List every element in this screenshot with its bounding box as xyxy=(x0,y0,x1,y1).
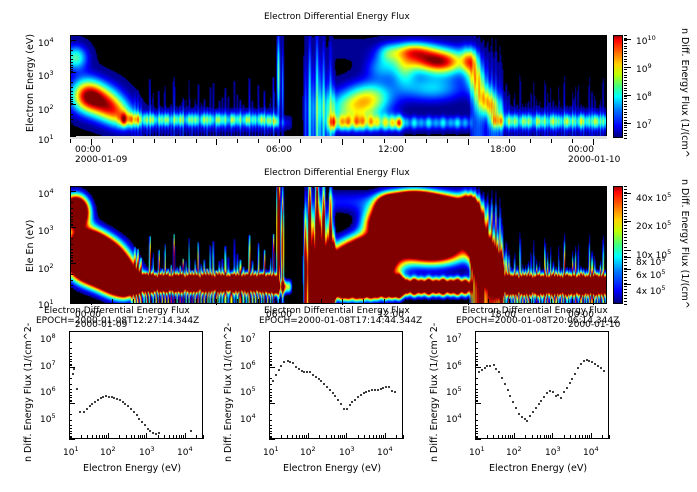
xtick xyxy=(279,299,280,303)
xtick xyxy=(183,435,184,439)
data-point xyxy=(481,369,483,371)
panel4-plot-area xyxy=(269,331,403,439)
xtick xyxy=(70,139,71,143)
data-point xyxy=(484,367,486,369)
data-point xyxy=(124,403,126,405)
cb-tick-minor xyxy=(624,222,627,223)
ytick-minor xyxy=(475,428,478,429)
data-point xyxy=(149,430,151,432)
tick-minor xyxy=(70,55,73,56)
panel1-ytick-label-2: 102 xyxy=(38,104,54,116)
cb-tick-minor xyxy=(624,301,627,302)
xtick xyxy=(447,299,448,303)
xtick xyxy=(510,435,511,439)
panel2-ytick-label-1: 103 xyxy=(38,225,54,237)
xtick xyxy=(426,139,427,143)
panel4-title: Electron Differential Energy Flux xyxy=(264,307,410,316)
xtick xyxy=(364,435,365,439)
tick-minor xyxy=(70,208,73,209)
cb-tick-minor xyxy=(624,213,627,214)
xtick xyxy=(81,435,82,439)
xtick xyxy=(396,435,397,439)
panel5-ytick-label-2: 105 xyxy=(446,386,462,398)
data-point xyxy=(334,395,336,397)
data-point xyxy=(385,386,387,388)
xtick xyxy=(551,299,552,303)
cb-tick-minor xyxy=(624,85,627,86)
tick-minor xyxy=(70,131,73,132)
xtick xyxy=(493,435,494,439)
xtick xyxy=(326,435,327,439)
tick-major xyxy=(70,104,76,105)
cb-tick-major xyxy=(624,193,631,194)
cb-tick-minor xyxy=(624,40,627,41)
tick-minor xyxy=(70,274,73,275)
xtick xyxy=(133,139,134,143)
tick-minor xyxy=(70,119,73,120)
data-point xyxy=(119,399,121,401)
cb-tick-minor xyxy=(624,127,627,128)
xtick xyxy=(363,299,364,303)
data-point xyxy=(136,414,138,416)
ytick-minor xyxy=(269,359,272,360)
ytick-major xyxy=(69,439,75,440)
panel4-ytick-label-1: 106 xyxy=(240,360,256,372)
ytick-major xyxy=(69,331,75,332)
xtick xyxy=(376,435,377,439)
data-point xyxy=(489,365,491,367)
xtick xyxy=(591,433,592,439)
data-point xyxy=(312,374,314,376)
cb-tick-minor xyxy=(624,90,627,91)
cb-tick-minor xyxy=(624,48,627,49)
cb-tick-minor xyxy=(624,53,627,54)
cb-tick-minor xyxy=(624,243,627,244)
tick-minor xyxy=(70,62,73,63)
tick-minor xyxy=(70,238,73,239)
cb-tick-minor xyxy=(624,138,627,139)
cb-tick-minor xyxy=(624,253,627,254)
data-point xyxy=(540,400,542,402)
xtick xyxy=(502,435,503,439)
data-point xyxy=(365,391,367,393)
data-point xyxy=(309,371,311,373)
cb-tick-minor xyxy=(624,104,627,105)
ytick-minor xyxy=(269,428,272,429)
data-point xyxy=(147,428,149,430)
tick-major xyxy=(70,136,76,137)
ytick-minor xyxy=(269,401,272,402)
xtick xyxy=(237,299,238,303)
xtick xyxy=(173,435,174,439)
panel1-xtick-label-4: 00:00 xyxy=(568,146,594,155)
tick-minor xyxy=(70,114,73,115)
panel3-plot-area xyxy=(69,331,203,439)
cb-tick-minor xyxy=(624,231,627,232)
data-point xyxy=(83,411,85,413)
panel2-heatmap-canvas xyxy=(71,187,606,303)
ytick-minor xyxy=(475,389,478,390)
panel1-ylabel: Electron Energy (eV) xyxy=(26,34,36,132)
panel1-baseline-strip xyxy=(70,136,607,139)
tick-major xyxy=(70,40,76,41)
ytick-minor xyxy=(269,392,272,393)
xtick xyxy=(385,433,386,439)
cb-tick-minor xyxy=(624,130,627,131)
cb-tick-minor xyxy=(624,207,627,208)
ytick-minor xyxy=(69,389,72,390)
data-point xyxy=(73,368,75,370)
panel5-title: Electron Differential Energy Flux xyxy=(462,307,608,316)
cb-tick-minor xyxy=(624,298,627,299)
panel1-heatmap-canvas xyxy=(71,36,606,137)
data-point xyxy=(524,418,526,420)
xtick xyxy=(138,435,139,439)
xtick xyxy=(373,435,374,439)
cb-tick-minor xyxy=(624,59,627,60)
data-point xyxy=(295,366,297,368)
panel2-ytick-label-0: 104 xyxy=(38,188,54,200)
data-point xyxy=(368,390,370,392)
cb-tick-major xyxy=(624,67,631,68)
ytick-minor xyxy=(69,414,72,415)
panel3-ylabel: n Diff. Energy Flux (1/(cm^2- xyxy=(24,323,34,462)
data-point xyxy=(292,362,294,364)
cb-tick-minor xyxy=(624,133,627,134)
ytick-minor xyxy=(69,431,72,432)
panel2-colorbar-label-3: 8x 105 xyxy=(636,256,666,268)
ytick-minor xyxy=(69,395,72,396)
xtick xyxy=(321,139,322,143)
panel1-colorbar-label-3: 107 xyxy=(636,119,652,131)
tick-minor xyxy=(70,67,73,68)
cb-tick-major xyxy=(624,250,631,251)
data-point xyxy=(560,397,562,399)
xtick xyxy=(91,299,92,305)
panel1-xtick-label-0: 00:00 xyxy=(75,146,101,155)
xtick xyxy=(508,435,509,439)
data-point xyxy=(493,364,495,366)
xtick xyxy=(602,435,603,439)
data-point xyxy=(332,392,334,394)
data-point xyxy=(577,367,579,369)
data-point xyxy=(526,420,528,422)
ytick-minor xyxy=(475,395,478,396)
data-point xyxy=(306,371,308,373)
xtick xyxy=(488,139,489,143)
data-point xyxy=(557,394,559,396)
tick-minor xyxy=(70,69,73,70)
data-point xyxy=(283,361,285,363)
panel2-colorbar-label-1: 20x 105 xyxy=(636,220,671,232)
xtick xyxy=(112,139,113,143)
data-point xyxy=(521,416,523,418)
xtick xyxy=(546,435,547,439)
data-point xyxy=(543,396,545,398)
data-point xyxy=(600,367,602,369)
cb-tick-minor xyxy=(624,189,627,190)
data-point xyxy=(130,408,132,410)
figure-canvas: Electron Differential Energy Flux 104 10… xyxy=(0,0,697,492)
ytick-minor xyxy=(69,401,72,402)
panel5-ytick-label-1: 106 xyxy=(446,360,462,372)
tick-minor xyxy=(70,87,73,88)
xtick xyxy=(405,139,406,143)
xtick xyxy=(593,299,594,305)
data-point xyxy=(111,396,113,398)
panel4-xlabel: Electron Energy (eV) xyxy=(283,464,381,474)
data-point xyxy=(591,361,593,363)
panel4-ytick-label-2: 105 xyxy=(240,386,256,398)
xtick xyxy=(237,139,238,143)
panel4-ytick-label-0: 107 xyxy=(240,333,256,345)
data-point xyxy=(190,430,192,432)
xtick xyxy=(319,435,320,439)
tick-minor xyxy=(70,65,73,66)
cb-tick-minor xyxy=(624,292,627,293)
xtick xyxy=(112,299,113,303)
xtick xyxy=(344,435,345,439)
panel4-ylabel: n Diff. Energy Flux (1/(cm^2- xyxy=(224,323,234,462)
data-point xyxy=(374,389,376,391)
ytick-minor xyxy=(475,348,478,349)
xtick xyxy=(269,433,270,439)
ytick-minor xyxy=(69,359,72,360)
panel3-subtitle: EPOCH=2000-01-08T12:27:14.344Z xyxy=(36,317,199,326)
panel5-plot-area xyxy=(475,331,609,439)
xtick xyxy=(572,139,573,143)
ytick-minor xyxy=(475,420,478,421)
data-point xyxy=(563,391,565,393)
xtick xyxy=(564,435,565,439)
tick-minor xyxy=(70,297,73,298)
data-point xyxy=(495,368,497,370)
cb-tick-major xyxy=(624,257,631,258)
data-point xyxy=(512,401,514,403)
tick-major xyxy=(70,263,76,264)
data-point xyxy=(329,389,331,391)
xtick xyxy=(551,139,552,143)
cb-tick-minor xyxy=(624,210,627,211)
xtick xyxy=(154,139,155,143)
panel2-colorbar-label-5: 4x 105 xyxy=(636,285,666,297)
ytick-minor xyxy=(475,392,478,393)
tick-minor xyxy=(70,249,73,250)
cb-tick-minor xyxy=(624,265,627,266)
xtick xyxy=(133,299,134,303)
cb-tick-minor xyxy=(624,262,627,263)
panel1-colorbar-axis-label: n Diff. Energy Flux (1/(cm^ xyxy=(680,28,690,158)
ytick-major xyxy=(269,403,275,404)
tick-minor xyxy=(70,94,73,95)
data-point xyxy=(574,373,576,375)
tick-minor xyxy=(70,202,73,203)
xtick xyxy=(196,299,197,303)
ytick-minor xyxy=(69,348,72,349)
data-point xyxy=(349,404,351,406)
data-point xyxy=(155,433,157,435)
panel5-xtick-label-1: 102 xyxy=(506,446,522,458)
tick-major xyxy=(70,191,76,192)
ytick-major xyxy=(269,439,275,440)
xtick xyxy=(92,435,93,439)
xtick xyxy=(175,139,176,143)
xtick xyxy=(530,139,531,143)
panel1-spectrogram xyxy=(70,35,607,138)
data-point xyxy=(538,403,540,405)
xtick xyxy=(179,435,180,439)
xtick xyxy=(216,299,217,305)
xtick xyxy=(131,435,132,439)
xtick xyxy=(306,435,307,439)
cb-tick-minor xyxy=(624,112,627,113)
xtick xyxy=(87,435,88,439)
tick-minor xyxy=(70,97,73,98)
xtick xyxy=(185,433,186,439)
ytick-major xyxy=(269,367,275,368)
xtick xyxy=(96,435,97,439)
data-point xyxy=(152,432,154,434)
tick-major xyxy=(70,72,76,73)
cb-tick-minor xyxy=(624,228,627,229)
xtick xyxy=(570,435,571,439)
cb-tick-major xyxy=(624,284,631,285)
panel4-xtick-label-1: 102 xyxy=(300,446,316,458)
panel4-xtick-label-0: 101 xyxy=(263,446,279,458)
cb-tick-minor xyxy=(624,271,627,272)
data-point xyxy=(571,378,573,380)
data-point xyxy=(603,370,605,372)
tick-minor xyxy=(70,291,73,292)
xtick xyxy=(308,433,309,439)
cb-tick-minor xyxy=(624,201,627,202)
xtick xyxy=(108,433,109,439)
cb-tick-minor xyxy=(624,135,627,136)
xtick xyxy=(358,435,359,439)
xtick xyxy=(104,435,105,439)
xtick xyxy=(532,435,533,439)
xtick xyxy=(384,139,385,143)
cb-tick-minor xyxy=(624,77,627,78)
data-point xyxy=(326,386,328,388)
cb-tick-minor xyxy=(624,240,627,241)
data-point xyxy=(76,388,78,390)
panel2-ytick-label-2: 102 xyxy=(38,263,54,275)
data-point xyxy=(363,392,365,394)
tick-minor xyxy=(70,126,73,127)
panel1-colorbar xyxy=(613,35,623,138)
data-point xyxy=(380,388,382,390)
xtick xyxy=(403,435,404,439)
cb-tick-minor xyxy=(624,234,627,235)
data-point xyxy=(303,371,305,373)
data-point xyxy=(535,407,537,409)
panel3-ytick-label-3: 105 xyxy=(40,413,56,425)
xtick xyxy=(142,435,143,439)
panel2-colorbar-label-4: 6x 105 xyxy=(636,269,666,281)
data-point xyxy=(343,408,345,410)
panel5-xtick-label-3: 104 xyxy=(583,446,599,458)
tick-minor xyxy=(70,285,73,286)
data-point xyxy=(346,408,348,410)
xtick xyxy=(346,433,347,439)
panel3-xtick-label-2: 103 xyxy=(139,446,155,458)
data-point xyxy=(280,365,282,367)
xtick xyxy=(302,435,303,439)
data-point xyxy=(94,401,96,403)
ytick-minor xyxy=(269,384,272,385)
data-point xyxy=(315,376,317,378)
data-point xyxy=(529,415,531,417)
tick-minor xyxy=(70,225,73,226)
cb-tick-minor xyxy=(624,204,627,205)
xtick xyxy=(505,435,506,439)
panel1-xtick-label-1: 06:00 xyxy=(266,146,292,155)
ytick-minor xyxy=(269,431,272,432)
data-point xyxy=(105,395,107,397)
xtick xyxy=(342,139,343,145)
xtick xyxy=(540,435,541,439)
xtick xyxy=(300,299,301,303)
panel2-title: Electron Differential Energy Flux xyxy=(264,169,410,178)
ytick-minor xyxy=(69,365,72,366)
cb-tick-minor xyxy=(624,259,627,260)
xtick xyxy=(176,435,177,439)
cb-tick-minor xyxy=(624,280,627,281)
xtick xyxy=(468,299,469,305)
ytick-minor xyxy=(69,353,72,354)
cb-tick-minor xyxy=(624,198,627,199)
xtick xyxy=(196,435,197,439)
xtick xyxy=(134,435,135,439)
panel1-ytick-label-0: 104 xyxy=(38,37,54,49)
tick-minor xyxy=(70,129,73,130)
cb-tick-minor xyxy=(624,46,627,47)
panel5-ylabel: n Diff. Energy Flux (1/(cm^2- xyxy=(430,323,440,462)
panel1-colorbar-label-1: 109 xyxy=(636,63,652,75)
panel1-xtick-label-2: 12:00 xyxy=(378,146,404,155)
xtick xyxy=(552,433,553,439)
xtick xyxy=(498,435,499,439)
xtick xyxy=(181,435,182,439)
panel3-xtick-label-3: 104 xyxy=(177,446,193,458)
ytick-major xyxy=(475,367,481,368)
xtick xyxy=(525,435,526,439)
cb-tick-minor xyxy=(624,101,627,102)
xtick xyxy=(287,435,288,439)
xtick xyxy=(514,433,515,439)
data-point xyxy=(507,389,509,391)
ytick-minor xyxy=(69,361,72,362)
panel1-ytick-label-1: 103 xyxy=(38,70,54,82)
panel2-colorbar-axis-label: n Diff. Energy Flux (1/(cm^ xyxy=(680,179,690,309)
xtick xyxy=(589,435,590,439)
xtick xyxy=(279,139,280,143)
ytick-minor xyxy=(69,356,72,357)
data-point xyxy=(337,399,339,401)
data-point xyxy=(371,389,373,391)
data-point xyxy=(86,408,88,410)
panel1-xtick-label-3: 18:00 xyxy=(490,146,516,155)
tick-minor xyxy=(70,99,73,100)
xtick xyxy=(447,139,448,143)
data-point xyxy=(586,359,588,361)
xtick xyxy=(126,435,127,439)
data-point xyxy=(351,401,353,403)
xtick xyxy=(487,435,488,439)
ytick-minor xyxy=(475,361,478,362)
xtick xyxy=(154,299,155,303)
